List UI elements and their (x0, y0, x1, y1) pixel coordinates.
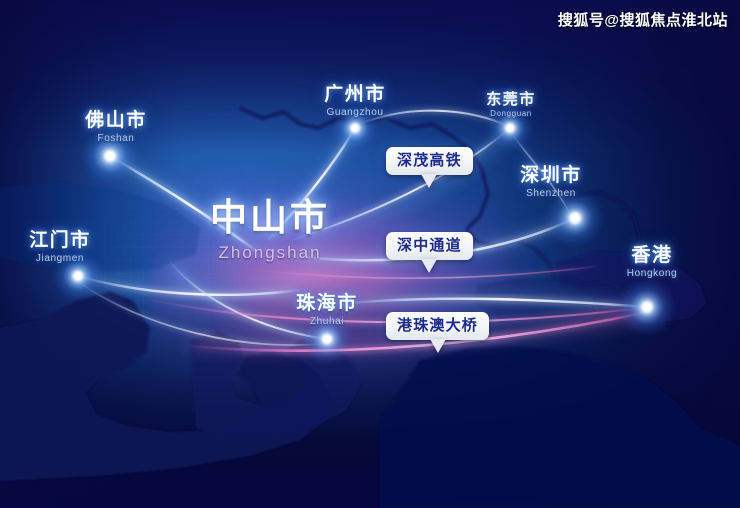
city-name-cn: 中山市 (180, 187, 360, 241)
callout-shenmao-railway[interactable]: 深茂高铁 (386, 147, 473, 175)
map-canvas: 搜狐号@搜狐焦点淮北站 佛山市 Foshan 广州市 Guangzhou 东莞市… (0, 0, 740, 508)
city-name-cn: 江门市 (6, 225, 114, 252)
callout-hzmb-bridge[interactable]: 港珠澳大桥 (386, 312, 489, 340)
callout-tail-icon (421, 259, 437, 273)
city-label-hongkong[interactable]: 香港 Hongkong (598, 240, 706, 279)
city-label-shenzhen[interactable]: 深圳市 Shenzhen (496, 160, 606, 199)
city-name-en: Dongguan (468, 109, 554, 118)
city-name-en: Jiangmen (6, 253, 114, 264)
city-name-cn: 珠海市 (275, 288, 379, 315)
city-label-zhongshan[interactable]: 中山市 Zhongshan (180, 187, 360, 263)
city-name-en: Shenzhen (496, 188, 606, 199)
city-name-cn: 广州市 (305, 79, 405, 106)
city-label-zhuhai[interactable]: 珠海市 Zhuhai (275, 288, 379, 327)
callout-label: 深中通道 (386, 232, 473, 260)
callout-shenzhong-channel[interactable]: 深中通道 (386, 232, 473, 260)
city-name-cn: 东莞市 (468, 88, 554, 109)
arc-magenta-mid (240, 266, 600, 278)
city-label-dongguan[interactable]: 东莞市 Dongguan (468, 88, 554, 118)
city-name-en: Guangzhou (305, 107, 405, 118)
city-name-en: Zhuhai (275, 316, 379, 327)
callout-tail-icon (430, 339, 446, 353)
callout-label: 深茂高铁 (386, 147, 473, 175)
city-name-en: Zhongshan (180, 243, 360, 263)
city-name-cn: 香港 (598, 240, 706, 267)
node-hongkong (617, 277, 677, 337)
city-label-jiangmen[interactable]: 江门市 Jiangmen (6, 225, 114, 264)
callout-tail-icon (421, 174, 437, 188)
city-label-guangzhou[interactable]: 广州市 Guangzhou (305, 79, 405, 118)
city-name-en: Hongkong (598, 268, 706, 279)
city-label-foshan[interactable]: 佛山市 Foshan (66, 105, 166, 144)
city-name-en: Foshan (66, 133, 166, 144)
watermark: 搜狐号@搜狐焦点淮北站 (558, 9, 728, 30)
callout-label: 港珠澳大桥 (386, 312, 489, 340)
city-name-cn: 佛山市 (66, 105, 166, 132)
city-name-cn: 深圳市 (496, 160, 606, 187)
